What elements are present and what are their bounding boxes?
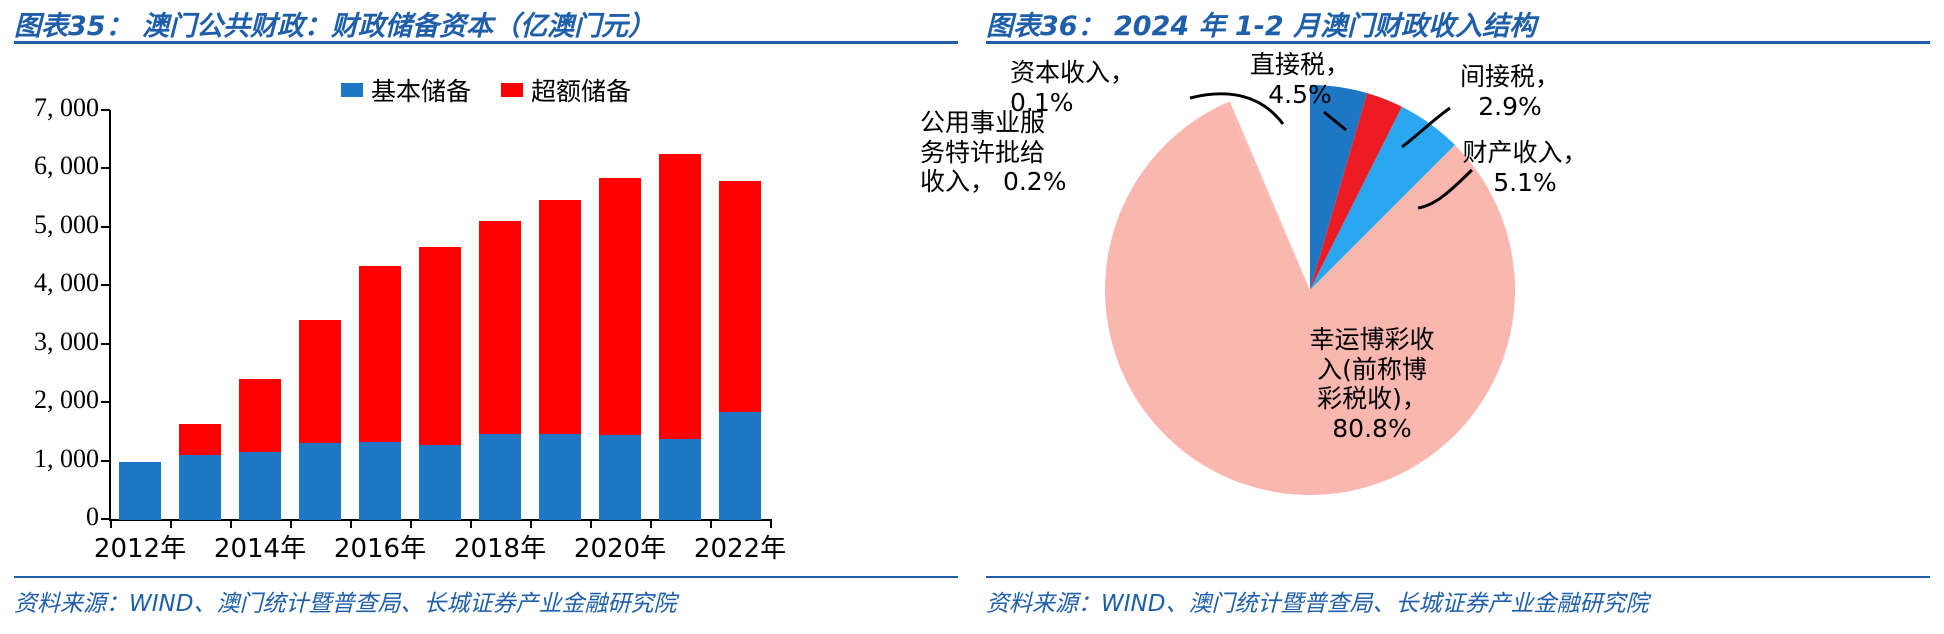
bar-segment-excess-reserve <box>539 200 581 434</box>
y-axis-tick <box>101 518 110 520</box>
bar-segment-base-reserve <box>539 434 581 520</box>
x-axis-tick <box>230 519 232 528</box>
bar-segment-base-reserve <box>299 443 341 520</box>
bar-segment-base-reserve <box>719 412 761 520</box>
x-axis-tick-label: 2014年 <box>214 528 306 565</box>
bar-segment-base-reserve <box>479 434 521 520</box>
bar-segment-excess-reserve <box>419 247 461 446</box>
x-axis-tick <box>770 519 772 528</box>
pie-label-property-income: 财产收入， 5.1% <box>1450 138 1600 197</box>
bar-segment-excess-reserve <box>479 221 521 434</box>
y-axis-tick <box>101 226 110 228</box>
bar-group <box>659 111 701 520</box>
source-divider-left <box>14 576 958 578</box>
y-axis-tick-label: 1, 000 <box>34 444 99 474</box>
bar-segment-base-reserve <box>359 442 401 520</box>
x-axis-tick-label: 2018年 <box>454 528 546 565</box>
bar-segment-base-reserve <box>419 445 461 520</box>
x-axis-tick <box>170 519 172 528</box>
y-axis-tick <box>101 401 110 403</box>
pie-label-direct-tax: 直接税， 4.5% <box>1230 50 1370 109</box>
bar-segment-excess-reserve <box>659 154 701 439</box>
bar-group <box>179 111 221 520</box>
x-axis-tick-label: 2020年 <box>574 528 666 565</box>
figure-35-title: 图表35： 澳门公共财政：财政储备资本（亿澳门元） <box>14 4 655 43</box>
y-axis-tick-label: 3, 000 <box>34 327 99 357</box>
x-axis-tick-label: 2012年 <box>94 528 186 565</box>
y-axis-tick-label: 5, 000 <box>34 210 99 240</box>
bar-group <box>539 111 581 520</box>
source-text-left: 资料来源：WIND、澳门统计暨普查局、长城证券产业金融研究院 <box>14 584 676 618</box>
x-axis-tick <box>410 519 412 528</box>
bar-segment-excess-reserve <box>359 266 401 442</box>
source-text-right: 资料来源：WIND、澳门统计暨普查局、长城证券产业金融研究院 <box>986 584 1648 618</box>
bar-segment-base-reserve <box>179 455 221 520</box>
legend-item-excess-reserve: 超额储备 <box>501 72 631 108</box>
legend-item-base-reserve: 基本储备 <box>341 72 471 108</box>
x-axis-tick <box>470 519 472 528</box>
x-axis-tick <box>110 519 112 528</box>
bar-group <box>419 111 461 520</box>
pie-label-utility-concession: 公用事业服 务特许批给 收入， 0.2% <box>920 108 1100 197</box>
bar-segment-excess-reserve <box>179 424 221 456</box>
bar-group <box>719 111 761 520</box>
x-axis-tick <box>350 519 352 528</box>
pie-label-indirect-tax: 间接税， 2.9% <box>1440 62 1580 121</box>
x-axis-tick-label: 2022年 <box>694 528 786 565</box>
bar-group <box>359 111 401 520</box>
bar-group <box>299 111 341 520</box>
y-axis-tick-label: 4, 000 <box>34 268 99 298</box>
legend-swatch-base-reserve <box>341 83 363 97</box>
bar-group <box>119 111 161 520</box>
y-axis-tick <box>101 284 110 286</box>
source-divider-right <box>986 576 1930 578</box>
x-axis-tick <box>290 519 292 528</box>
y-axis-tick-label: 7, 000 <box>34 93 99 123</box>
x-axis-tick <box>650 519 652 528</box>
y-axis-tick <box>101 167 110 169</box>
bar-segment-base-reserve <box>599 435 641 520</box>
y-axis-labels: 01, 0002, 0003, 0004, 0005, 0006, 0007, … <box>0 108 105 523</box>
bar-chart-legend: 基本储备 超额储备 <box>0 72 972 108</box>
legend-label-base-reserve: 基本储备 <box>371 72 471 108</box>
x-axis-tick <box>590 519 592 528</box>
bar-segment-excess-reserve <box>299 320 341 443</box>
pie-chart: 资本收入， 0.1% 公用事业服 务特许批给 收入， 0.2% 直接税， 4.5… <box>972 0 1944 634</box>
figure-panel-left: 图表35： 澳门公共财政：财政储备资本（亿澳门元） 基本储备 超额储备 01, … <box>0 0 972 634</box>
bar-chart-plot-area <box>110 110 770 520</box>
bar-segment-base-reserve <box>119 462 161 520</box>
y-axis-tick-label: 2, 000 <box>34 385 99 415</box>
legend-swatch-excess-reserve <box>501 83 523 97</box>
bar-segment-excess-reserve <box>239 379 281 453</box>
pie-label-gaming-income: 幸运博彩收 入(前称博 彩税收)， 80.8% <box>1292 325 1452 443</box>
bar-group <box>479 111 521 520</box>
x-axis-tick <box>710 519 712 528</box>
bar-group <box>599 111 641 520</box>
y-axis-tick <box>101 460 110 462</box>
y-axis-tick <box>101 109 110 111</box>
x-axis-tick-label: 2016年 <box>334 528 426 565</box>
bar-segment-base-reserve <box>239 452 281 520</box>
x-axis-tick <box>530 519 532 528</box>
bar-group <box>239 111 281 520</box>
y-axis-tick <box>101 343 110 345</box>
title-divider-left <box>14 41 958 44</box>
legend-label-excess-reserve: 超额储备 <box>531 72 631 108</box>
bar-segment-excess-reserve <box>599 178 641 435</box>
bar-segment-base-reserve <box>659 439 701 520</box>
y-axis-tick-label: 6, 000 <box>34 151 99 181</box>
bar-segment-excess-reserve <box>719 181 761 412</box>
figure-panel-right: 图表36： 2024 年 1-2 月澳门财政收入结构 资本收入， 0.1% 公用… <box>972 0 1944 634</box>
